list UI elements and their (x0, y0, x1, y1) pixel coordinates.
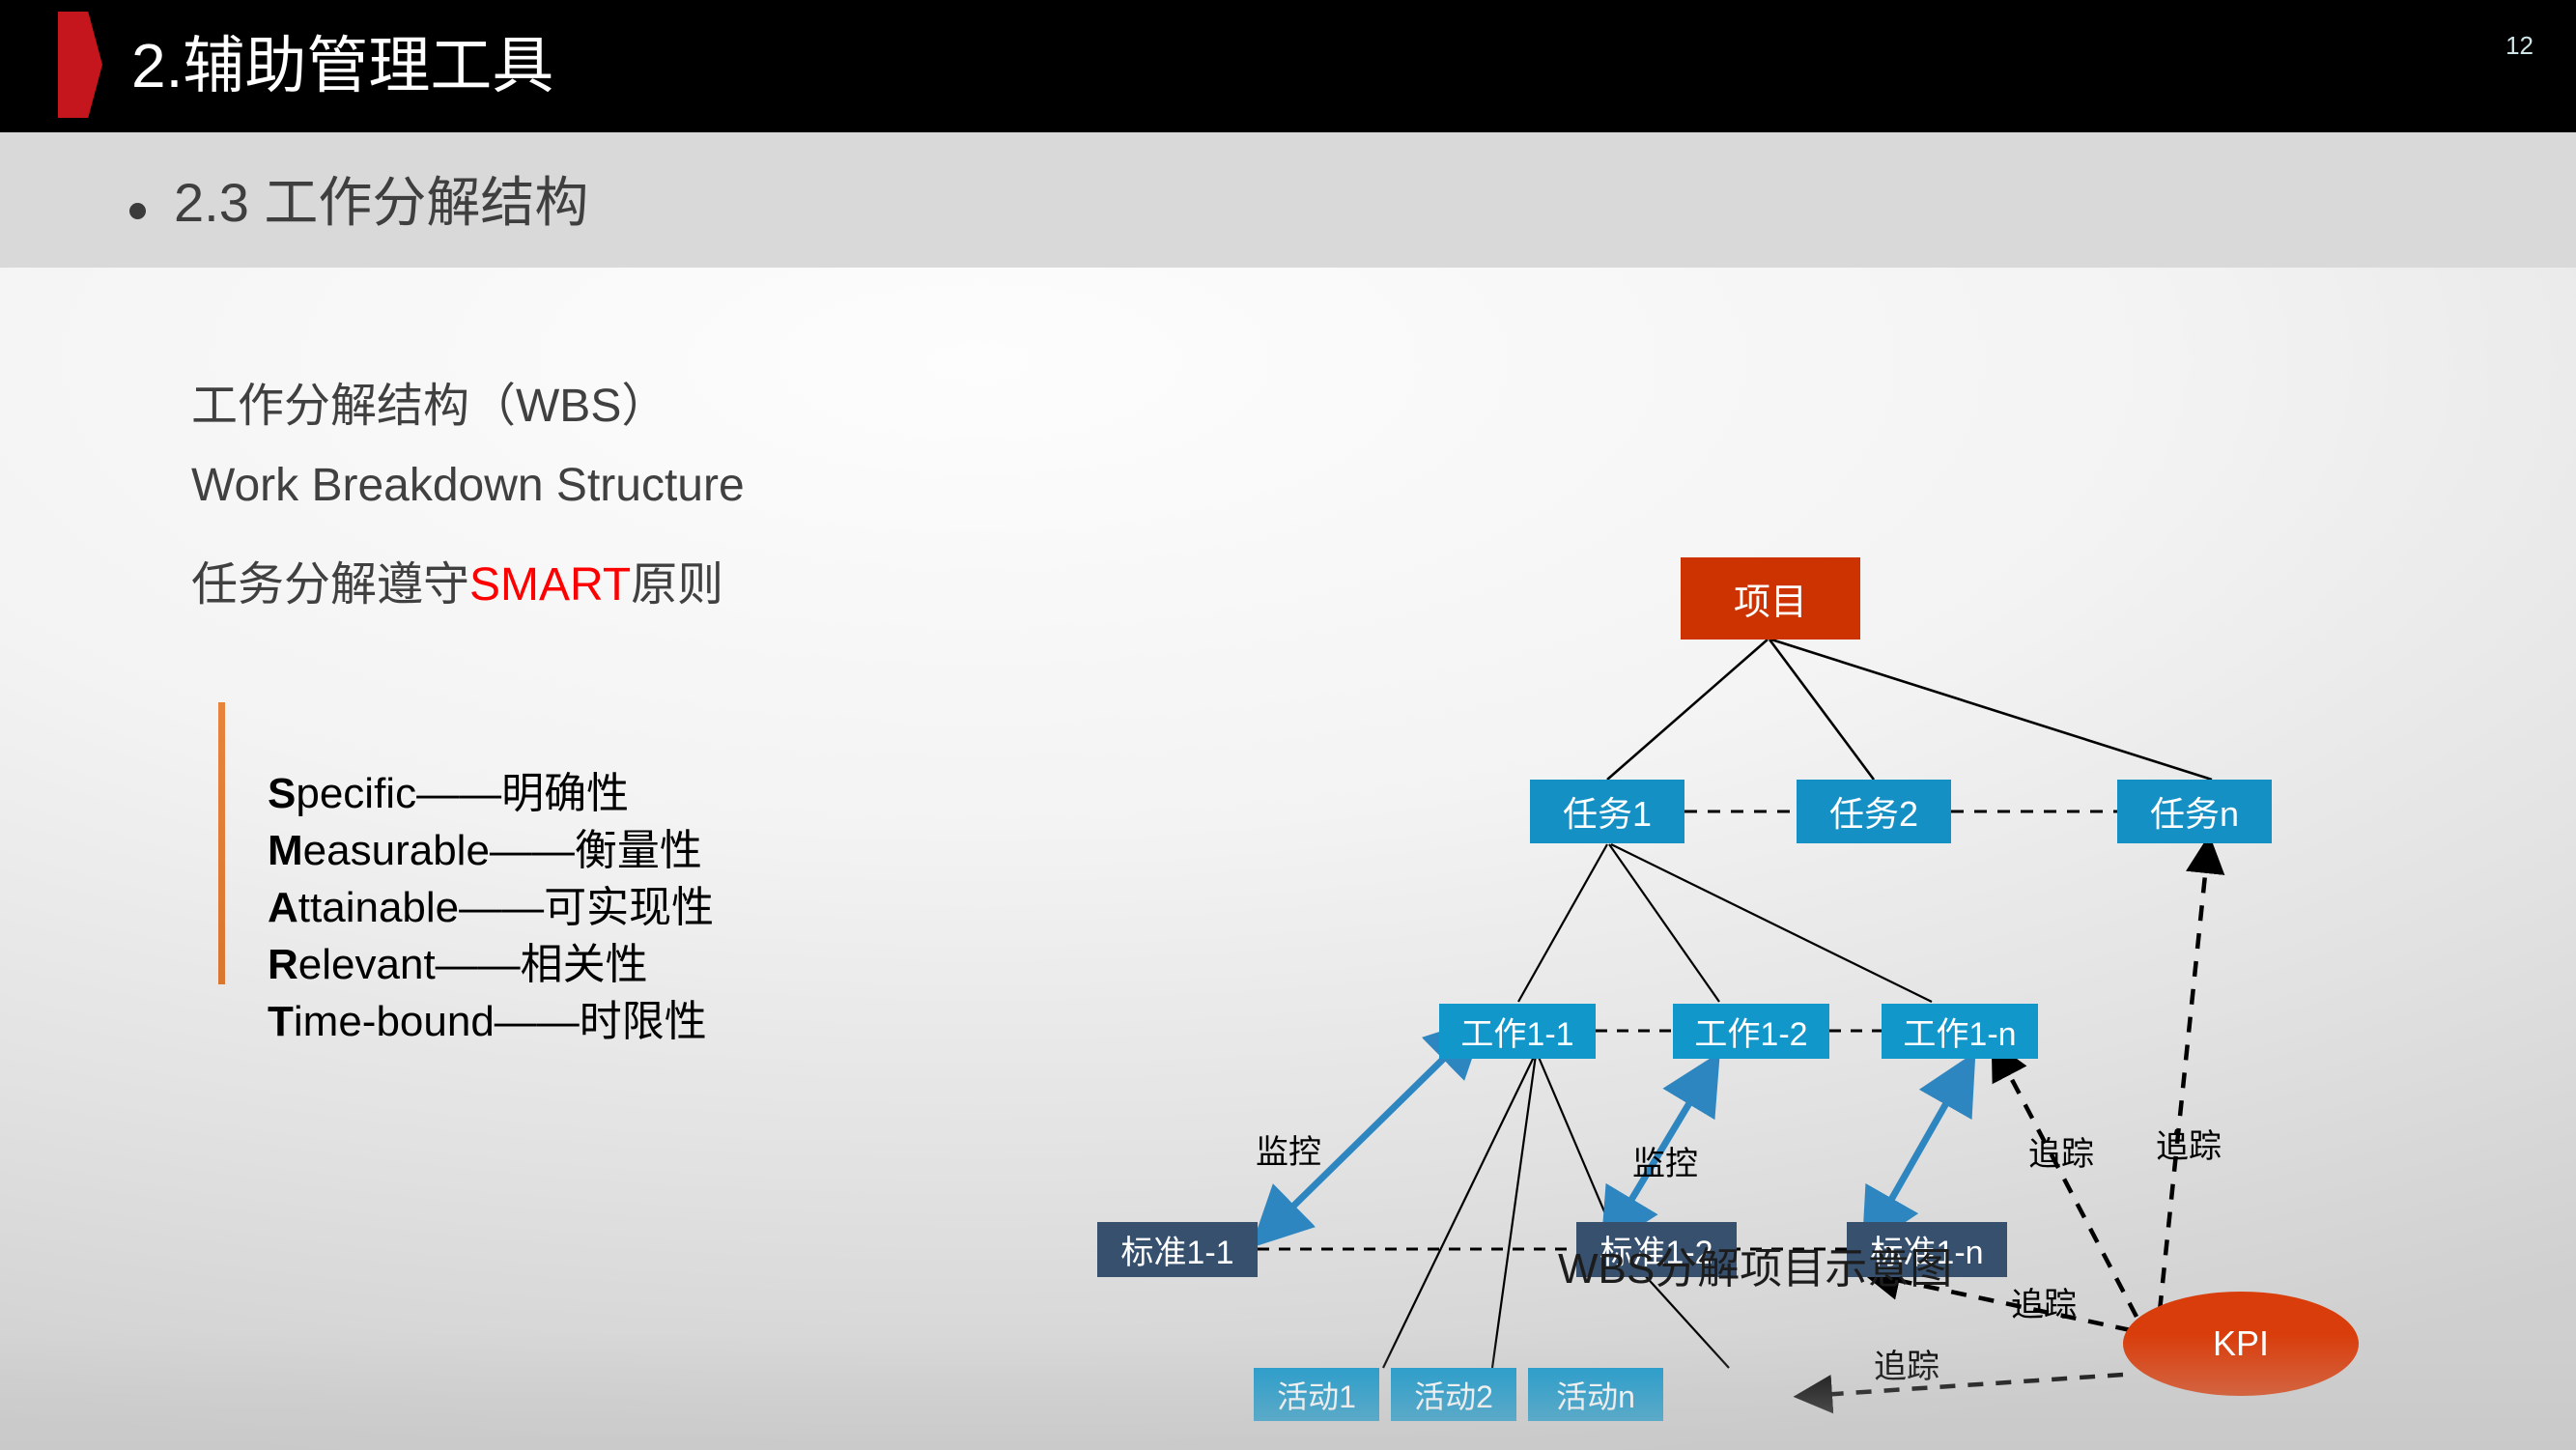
slide-header: 2.辅助管理工具 12 (0, 0, 2576, 132)
node-standard-1-1[interactable]: 标准1-1 (1097, 1222, 1258, 1277)
page-title: 2.辅助管理工具 (131, 4, 553, 128)
node-task-1[interactable]: 任务1 (1530, 780, 1684, 843)
bullet-icon (129, 203, 146, 219)
edge-label-monitor-2: 监控 (1632, 1137, 1698, 1184)
node-project[interactable]: 项目 (1681, 557, 1860, 640)
node-task-2[interactable]: 任务2 (1797, 780, 1951, 843)
edge-label-track-3: 追踪 (2011, 1278, 2077, 1325)
node-activity-n[interactable]: 活动n (1528, 1368, 1663, 1421)
slide-root: 2.辅助管理工具 12 2.3 工作分解结构 工作分解结构（WBS） Work … (0, 0, 2576, 1450)
node-work-1-1[interactable]: 工作1-1 (1439, 1004, 1596, 1059)
section-subtitle: 2.3 工作分解结构 (174, 159, 588, 238)
node-activity-2[interactable]: 活动2 (1391, 1368, 1516, 1421)
node-task-n[interactable]: 任务n (2117, 780, 2272, 843)
node-work-1-n[interactable]: 工作1-n (1882, 1004, 2038, 1059)
diagram-caption: WBS分解项目示意图 (1558, 1234, 1952, 1295)
edge-label-track-2: 追踪 (2156, 1120, 2222, 1167)
node-kpi[interactable]: KPI (2123, 1292, 2359, 1396)
wbs-diagram-edges (0, 268, 2576, 1450)
edge-label-track-1: 追踪 (2028, 1127, 2094, 1175)
wbs-diagram: 项目 任务1 任务2 任务n 工作1-1 工作1-2 工作1-n 标准1-1 标… (0, 268, 2576, 1450)
node-work-1-2[interactable]: 工作1-2 (1673, 1004, 1829, 1059)
node-activity-1[interactable]: 活动1 (1254, 1368, 1379, 1421)
edge-label-track-4: 追踪 (1874, 1340, 1939, 1387)
page-number: 12 (2505, 31, 2534, 61)
slide-body: 工作分解结构（WBS） Work Breakdown Structure 任务分… (0, 268, 2576, 1450)
header-marker-icon (58, 12, 102, 118)
edge-label-monitor-1: 监控 (1256, 1125, 1321, 1173)
